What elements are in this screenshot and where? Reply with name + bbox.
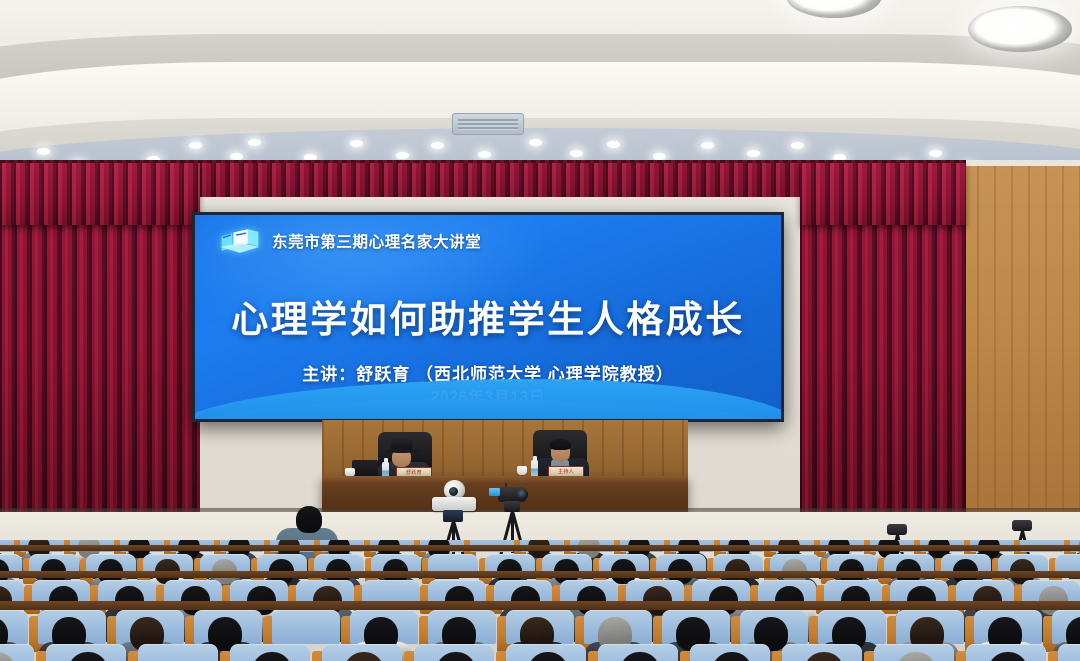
auditorium-photo: 东莞市第三期心理名家大讲堂 心理学如何助推学生人格成长 主讲：舒跃育 （西北师范… [0, 0, 1080, 661]
screen-header-row: 东莞市第三期心理名家大讲堂 [219, 227, 481, 255]
curtain-valance-right [800, 163, 966, 225]
camcorder-body [1012, 520, 1032, 531]
downlight-icon [431, 142, 444, 149]
water-bottle [531, 460, 538, 477]
auditorium-seat[interactable] [1058, 644, 1080, 661]
ceiling-light-icon [968, 6, 1072, 52]
audience-seating [0, 540, 1080, 661]
led-screen: 东莞市第三期心理名家大讲堂 心理学如何助推学生人格成长 主讲：舒跃育 （西北师范… [192, 212, 784, 422]
seat-row-rail [0, 601, 1080, 610]
downlight-icon [350, 140, 363, 147]
screen-title: 心理学如何助推学生人格成长 [195, 289, 781, 343]
led-screen-surface: 东莞市第三期心理名家大讲堂 心理学如何助推学生人格成长 主讲：舒跃育 （西北师范… [195, 215, 781, 419]
ptz-camera-body [432, 497, 476, 511]
downlight-icon [653, 153, 666, 160]
camcorder-lens [517, 489, 528, 500]
ptz-lens [449, 487, 458, 496]
downlight-icon [701, 142, 714, 149]
camcorder-body [887, 524, 907, 535]
seat-row-rail [0, 545, 1080, 551]
wood-panel-wall [960, 166, 1080, 516]
downlight-icon [248, 139, 261, 146]
attendee-head [296, 506, 322, 533]
laptop [352, 460, 378, 477]
auditorium-seat[interactable] [138, 644, 218, 661]
curtain-valance-left [0, 163, 200, 225]
ceiling [0, 0, 1080, 175]
open-book-logo-icon [219, 227, 261, 255]
nameplate-right-text: 主持人 [549, 469, 583, 476]
camcorder-screen [489, 488, 500, 496]
screen-header-text: 东莞市第三期心理名家大讲堂 [272, 230, 481, 252]
downlight-icon [37, 148, 50, 155]
speaker-hat-brim [385, 449, 418, 453]
seat-row-rail [0, 571, 1080, 578]
tea-cup [517, 466, 527, 475]
speaker-hair [550, 439, 571, 450]
downlight-icon [396, 152, 409, 159]
air-vent-icon [452, 113, 524, 135]
auditorium-seat[interactable] [272, 610, 340, 644]
curtain-valance-center [200, 163, 800, 197]
downlight-icon [230, 153, 243, 160]
